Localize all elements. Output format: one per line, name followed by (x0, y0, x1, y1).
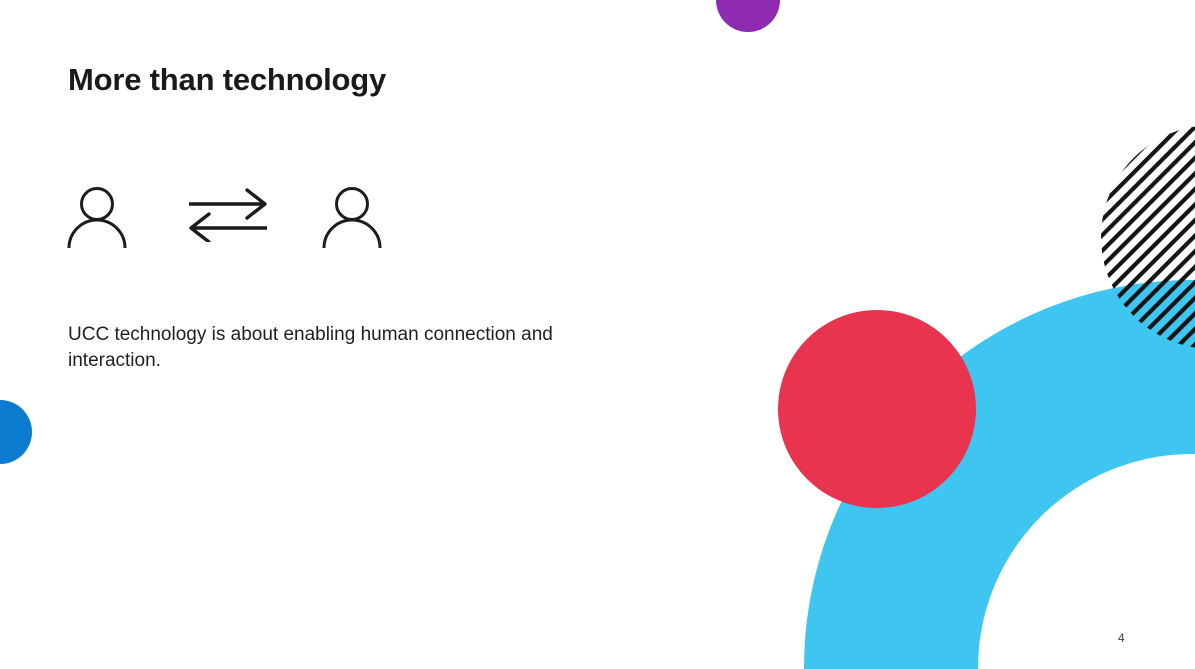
person-icon-left (62, 182, 132, 248)
exchange-arrows-icon (187, 188, 269, 242)
hatched-circle-decoration (1085, 125, 1195, 350)
body-paragraph: UCC technology is about enabling human c… (68, 322, 588, 373)
blue-circle-decoration (0, 400, 32, 464)
red-circle-decoration (778, 310, 976, 508)
purple-semicircle-decoration (716, 0, 780, 32)
page-title: More than technology (68, 62, 386, 98)
page-number: 4 (1118, 631, 1125, 645)
person-icon-right (317, 182, 387, 248)
slide-canvas: More than technology UCC technology is a… (0, 0, 1195, 669)
icon-row (62, 182, 402, 248)
